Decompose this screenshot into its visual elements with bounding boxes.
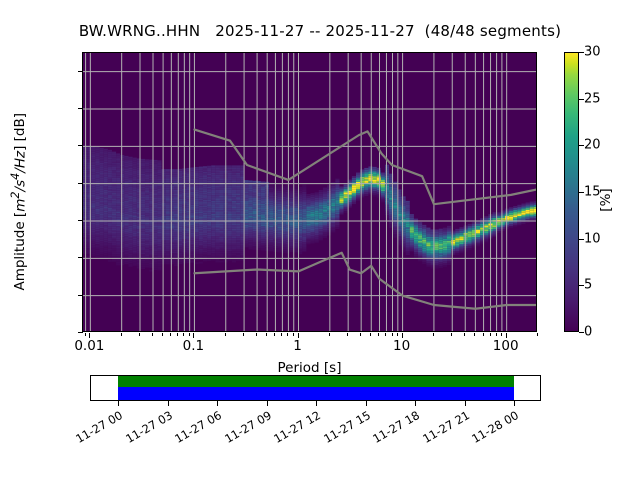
ppsd-cell <box>352 198 356 200</box>
ppsd-cell <box>104 236 108 238</box>
ppsd-cell <box>83 243 87 245</box>
ppsd-cell <box>311 195 315 197</box>
ppsd-cell <box>95 211 99 213</box>
ppsd-cell <box>368 178 372 180</box>
ppsd-cell <box>228 242 232 244</box>
ppsd-cell <box>112 152 116 154</box>
ppsd-cell <box>368 193 372 195</box>
ppsd-cell <box>170 192 174 194</box>
ppsd-cell <box>422 234 426 236</box>
ppsd-cell <box>100 174 104 176</box>
ppsd-cell <box>476 243 480 245</box>
ppsd-cell <box>108 211 112 213</box>
ppsd-cell <box>335 190 339 192</box>
ppsd-cell <box>124 245 128 247</box>
ppsd-cell <box>215 225 219 227</box>
ppsd-cell <box>133 260 137 262</box>
ppsd-cell <box>406 242 410 244</box>
ppsd-cell <box>368 176 372 178</box>
ppsd-cell <box>157 252 161 254</box>
ppsd-cell <box>344 202 348 204</box>
ppsd-cell <box>244 199 248 201</box>
ppsd-cell <box>236 216 240 218</box>
ppsd-cell <box>253 237 257 239</box>
ppsd-cell <box>100 237 104 239</box>
ppsd-cell <box>203 228 207 230</box>
ppsd-cell <box>443 244 447 246</box>
ppsd-cell <box>100 189 104 191</box>
ppsd-cell <box>220 165 224 167</box>
ppsd-cell <box>435 235 439 237</box>
colorbar-tick-label: 15 <box>584 185 601 200</box>
ppsd-cell <box>145 206 149 208</box>
ppsd-cell <box>220 234 224 236</box>
ppsd-cell <box>108 195 112 197</box>
ppsd-cell <box>116 237 120 239</box>
ppsd-cell <box>493 233 497 235</box>
ppsd-cell <box>406 248 410 250</box>
ppsd-cell <box>228 218 232 220</box>
ppsd-cell <box>108 185 112 187</box>
ppsd-cell <box>294 238 298 240</box>
x-minor-tick <box>474 333 475 336</box>
ppsd-cell <box>112 243 116 245</box>
ppsd-cell <box>199 224 203 226</box>
ppsd-cell <box>418 245 422 247</box>
ppsd-cell <box>120 174 124 176</box>
ppsd-cell <box>91 197 95 199</box>
ppsd-cell <box>418 228 422 230</box>
ppsd-cell <box>385 208 389 210</box>
ppsd-cell <box>220 175 224 177</box>
ppsd-cell <box>215 259 219 261</box>
ppsd-cell <box>211 233 215 235</box>
ppsd-cell <box>269 208 273 210</box>
ppsd-cell <box>145 187 149 189</box>
ppsd-cell <box>455 251 459 253</box>
ppsd-cell <box>108 174 112 176</box>
ppsd-cell <box>91 152 95 154</box>
ppsd-cell <box>315 218 319 220</box>
ppsd-cell <box>108 219 112 221</box>
ppsd-cell <box>277 232 281 234</box>
time-tick-mark <box>168 401 169 406</box>
ppsd-cell <box>406 249 410 251</box>
ppsd-cell <box>203 211 207 213</box>
ppsd-cell <box>306 224 310 226</box>
ppsd-cell <box>497 224 501 226</box>
ppsd-cell <box>174 264 178 266</box>
ppsd-cell <box>294 206 298 208</box>
ppsd-cell <box>112 195 116 197</box>
ppsd-cell <box>331 206 335 208</box>
ppsd-cell <box>319 216 323 218</box>
ppsd-cell <box>129 244 133 246</box>
ppsd-cell <box>116 215 120 217</box>
ppsd-cell <box>277 223 281 225</box>
ppsd-cell <box>497 222 501 224</box>
ppsd-cell <box>244 236 248 238</box>
ppsd-cell <box>269 203 273 205</box>
ppsd-cell <box>422 240 426 242</box>
colorbar-tick-label: 5 <box>584 278 592 293</box>
ppsd-cell <box>104 199 108 201</box>
ppsd-cell <box>286 238 290 240</box>
ppsd-cell <box>517 222 521 224</box>
ppsd-cell <box>91 200 95 202</box>
ppsd-cell <box>174 205 178 207</box>
ppsd-cell <box>166 208 170 210</box>
ppsd-cell <box>530 202 534 204</box>
ppsd-cell <box>83 151 87 153</box>
ppsd-cell <box>162 171 166 173</box>
ppsd-cell <box>116 202 120 204</box>
ppsd-cell <box>484 233 488 235</box>
ppsd-cell <box>261 211 265 213</box>
noise-model-nlnm <box>194 253 537 309</box>
ppsd-cell <box>133 238 137 240</box>
ppsd-cell <box>418 224 422 226</box>
ppsd-cell <box>166 255 170 257</box>
ppsd-cell <box>526 212 530 214</box>
ppsd-cell <box>203 254 207 256</box>
ppsd-cell <box>447 248 451 250</box>
ppsd-cell <box>526 210 530 212</box>
ppsd-cell <box>406 210 410 212</box>
ppsd-cell <box>352 202 356 204</box>
ppsd-cell <box>422 253 426 255</box>
ppsd-cell <box>344 198 348 200</box>
ppsd-cell <box>211 212 215 214</box>
ppsd-cell <box>335 214 339 216</box>
ppsd-cell <box>211 253 215 255</box>
ppsd-cell <box>244 231 248 233</box>
ppsd-cell <box>141 178 145 180</box>
ppsd-cell <box>261 198 265 200</box>
ppsd-cell <box>315 230 319 232</box>
ppsd-cell <box>129 233 133 235</box>
ppsd-cell <box>459 235 463 237</box>
ppsd-cell <box>174 195 178 197</box>
ppsd-cell <box>207 222 211 224</box>
ppsd-cell <box>133 229 137 231</box>
ppsd-cell <box>232 244 236 246</box>
ppsd-cell <box>521 217 525 219</box>
ppsd-cell <box>162 244 166 246</box>
ppsd-cell <box>356 180 360 182</box>
ppsd-cell <box>484 239 488 241</box>
ppsd-cell <box>199 200 203 202</box>
ppsd-cell <box>157 250 161 252</box>
time-coverage-axis[interactable] <box>90 375 541 401</box>
ppsd-cell <box>315 241 319 243</box>
ppsd-cell <box>120 222 124 224</box>
ppsd-cell <box>236 192 240 194</box>
ppsd-cell <box>95 197 99 199</box>
ppsd-cell <box>195 251 199 253</box>
time-tick-label: 11-27 18 <box>365 408 422 449</box>
ppsd-cell <box>211 248 215 250</box>
ppsd-cell <box>286 212 290 214</box>
time-tick-mark <box>465 401 466 406</box>
ppsd-cell <box>133 189 137 191</box>
ppsd-cell <box>220 214 224 216</box>
ppsd-cell <box>315 194 319 196</box>
ppsd-cell <box>112 202 116 204</box>
ppsd-cell <box>368 191 372 193</box>
ppsd-cell <box>162 231 166 233</box>
ppsd-cell <box>311 232 315 234</box>
ppsd-cell <box>153 171 157 173</box>
ppsd-cell <box>311 236 315 238</box>
ppsd-cell <box>100 247 104 249</box>
ppsd-cell <box>327 208 331 210</box>
ppsd-cell <box>100 243 104 245</box>
ppsd-cell <box>339 211 343 213</box>
ppsd-cell <box>331 188 335 190</box>
ppsd-cell <box>157 190 161 192</box>
ppsd-cell <box>253 229 257 231</box>
ppsd-cell <box>447 228 451 230</box>
ppsd-cell <box>377 192 381 194</box>
ppsd-cell <box>95 169 99 171</box>
ppsd-cell <box>145 226 149 228</box>
ppsd-cell <box>141 254 145 256</box>
ppsd-cell <box>468 241 472 243</box>
ppsd-cell <box>393 185 397 187</box>
ppsd-cell <box>286 251 290 253</box>
ppsd-cell <box>352 187 356 189</box>
ppsd-cell <box>166 173 170 175</box>
ppsd-cell <box>323 189 327 191</box>
ppsd-cell <box>468 224 472 226</box>
ppsd-cell <box>406 244 410 246</box>
ppsd-cell <box>323 231 327 233</box>
data-coverage-bar <box>118 376 514 387</box>
ppsd-cell <box>335 222 339 224</box>
ppsd-cell <box>534 211 537 213</box>
ppsd-cell <box>476 226 480 228</box>
ppsd-cell <box>116 194 120 196</box>
ppsd-cell <box>153 199 157 201</box>
colorbar-tick-mark <box>579 285 584 286</box>
ppsd-cell <box>468 233 472 235</box>
ppsd-cell <box>393 230 397 232</box>
ppsd-cell <box>302 214 306 216</box>
ppsd-cell <box>141 211 145 213</box>
ppsd-cell <box>91 163 95 165</box>
ppsd-cell <box>410 227 414 229</box>
ppsd-cell <box>393 213 397 215</box>
ppsd-density-cells <box>83 146 537 272</box>
ppsd-cell <box>104 197 108 199</box>
ppsd-cell <box>339 201 343 203</box>
ppsd-cell <box>459 229 463 231</box>
ppsd-cell <box>153 201 157 203</box>
ppsd-cell <box>269 218 273 220</box>
ppsd-cell <box>468 235 472 237</box>
ppsd-cell <box>381 180 385 182</box>
ppsd-cell <box>277 249 281 251</box>
ppsd-cell <box>418 250 422 252</box>
y-tick-mark <box>78 332 83 333</box>
ppsd-cell <box>153 259 157 261</box>
ppsd-cell <box>311 202 315 204</box>
ppsd-cell <box>95 205 99 207</box>
ppsd-cell <box>385 198 389 200</box>
ppsd-cell <box>170 251 174 253</box>
ppsd-cell <box>124 203 128 205</box>
ppsd-cell <box>174 225 178 227</box>
ppsd-cell <box>153 169 157 171</box>
ppsd-cell <box>112 217 116 219</box>
ppsd-cell <box>95 155 99 157</box>
ppsd-cell <box>327 200 331 202</box>
ppsd-cell <box>294 228 298 230</box>
ppsd-cell <box>166 210 170 212</box>
ppsd-cell <box>112 219 116 221</box>
ppsd-cell <box>141 267 145 269</box>
ppsd-cell <box>195 249 199 251</box>
ppsd-cell <box>112 163 116 165</box>
ppsd-cell <box>422 260 426 262</box>
ppsd-cell <box>108 228 112 230</box>
ppsd-cell <box>311 199 315 201</box>
ppsd-cell <box>422 227 426 229</box>
ppsd-cell <box>157 162 161 164</box>
ppsd-cell <box>95 199 99 201</box>
colorbar-tick-label: 30 <box>584 45 601 60</box>
ppsd-cell <box>133 223 137 225</box>
ppsd-cell <box>124 231 128 233</box>
ppsd-cell <box>344 200 348 202</box>
x-minor-tick <box>397 333 398 336</box>
ppsd-cell <box>91 180 95 182</box>
ppsd-cell <box>286 250 290 252</box>
ppsd-cell <box>236 184 240 186</box>
ppsd-cell <box>335 223 339 225</box>
ppsd-cell <box>108 232 112 234</box>
ppsd-cell <box>195 244 199 246</box>
ppsd-cell <box>124 191 128 193</box>
ppsd-cell <box>261 196 265 198</box>
ppsd-cell <box>91 247 95 249</box>
ppsd-cell <box>277 239 281 241</box>
ppsd-cell <box>331 189 335 191</box>
ppsd-cell <box>315 200 319 202</box>
ppsd-cell <box>157 160 161 162</box>
ppsd-cell <box>356 199 360 201</box>
ppsd-cell <box>211 236 215 238</box>
ppsd-cell <box>497 216 501 218</box>
ppsd-cell <box>129 200 133 202</box>
ppsd-cell <box>294 224 298 226</box>
ppsd-cell <box>207 214 211 216</box>
ppsd-cell <box>253 194 257 196</box>
ppsd-cell <box>277 219 281 221</box>
ppsd-cell <box>377 177 381 179</box>
ppsd-cell <box>157 199 161 201</box>
ppsd-cell <box>108 215 112 217</box>
ppsd-cell <box>112 196 116 198</box>
ppsd-cell <box>203 226 207 228</box>
ppsd-cell <box>534 205 537 207</box>
ppsd-cell <box>253 192 257 194</box>
ppsd-cell <box>220 169 224 171</box>
ppsd-cell <box>319 231 323 233</box>
ppsd-cell <box>100 167 104 169</box>
ppsd-cell <box>368 170 372 172</box>
ppsd-cell <box>236 210 240 212</box>
ppsd-cell <box>244 212 248 214</box>
ppsd-cell <box>162 180 166 182</box>
ppsd-cell <box>157 222 161 224</box>
ppsd-cell <box>339 198 343 200</box>
ppsd-cell <box>195 191 199 193</box>
ppsd-cell <box>170 193 174 195</box>
ppsd-cell <box>104 180 108 182</box>
ppsd-cell <box>244 214 248 216</box>
ppsd-cell <box>228 206 232 208</box>
ppsd-cell <box>174 169 178 171</box>
ppsd-cell <box>468 229 472 231</box>
ppsd-cell <box>422 255 426 257</box>
ppsd-cell <box>207 190 211 192</box>
ppsd-cell <box>116 230 120 232</box>
ppsd-cell <box>162 169 166 171</box>
ppsd-cell <box>236 223 240 225</box>
ppsd-plot-area[interactable] <box>82 52 537 332</box>
ppsd-cell <box>422 236 426 238</box>
ppsd-cell <box>166 233 170 235</box>
ppsd-cell <box>302 246 306 248</box>
ppsd-cell <box>311 217 315 219</box>
ppsd-cell <box>385 182 389 184</box>
ppsd-cell <box>203 237 207 239</box>
ppsd-cell <box>153 195 157 197</box>
ppsd-cell <box>120 168 124 170</box>
ppsd-cell <box>368 189 372 191</box>
ppsd-cell <box>253 196 257 198</box>
ppsd-cell <box>170 201 174 203</box>
ppsd-cell <box>228 240 232 242</box>
ppsd-cell <box>331 223 335 225</box>
ppsd-cell <box>120 226 124 228</box>
ppsd-cell <box>410 214 414 216</box>
ppsd-cell <box>509 226 513 228</box>
ppsd-cell <box>422 232 426 234</box>
ppsd-cell <box>306 228 310 230</box>
ppsd-cell <box>232 177 236 179</box>
ppsd-cell <box>141 234 145 236</box>
ppsd-cell <box>236 249 240 251</box>
ppsd-cell <box>439 255 443 257</box>
ppsd-cell <box>162 223 166 225</box>
ppsd-cell <box>104 208 108 210</box>
ppsd-cell <box>104 162 108 164</box>
ppsd-cell <box>141 196 145 198</box>
ppsd-cell <box>199 182 203 184</box>
ppsd-cell <box>439 262 443 264</box>
ppsd-cell <box>211 201 215 203</box>
ppsd-cell <box>232 234 236 236</box>
ppsd-cell <box>228 175 232 177</box>
ppsd-cell <box>277 230 281 232</box>
ppsd-cell <box>124 260 128 262</box>
ppsd-cell <box>195 227 199 229</box>
ppsd-cell <box>129 207 133 209</box>
ppsd-cell <box>145 232 149 234</box>
